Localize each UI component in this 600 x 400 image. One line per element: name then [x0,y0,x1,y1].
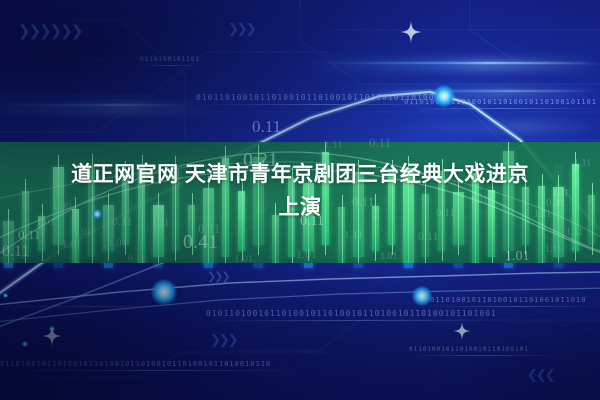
headline-line-1: 道正网官网 天津市青年京剧团三台经典大戏进京 [8,158,592,191]
headline-line-2: 上演 [8,191,592,224]
promo-banner: 0.211.001.011.010.110.111.010.111.010.11… [0,0,600,400]
headline-title: 道正网官网 天津市青年京剧团三台经典大戏进京 上演 [0,158,600,224]
